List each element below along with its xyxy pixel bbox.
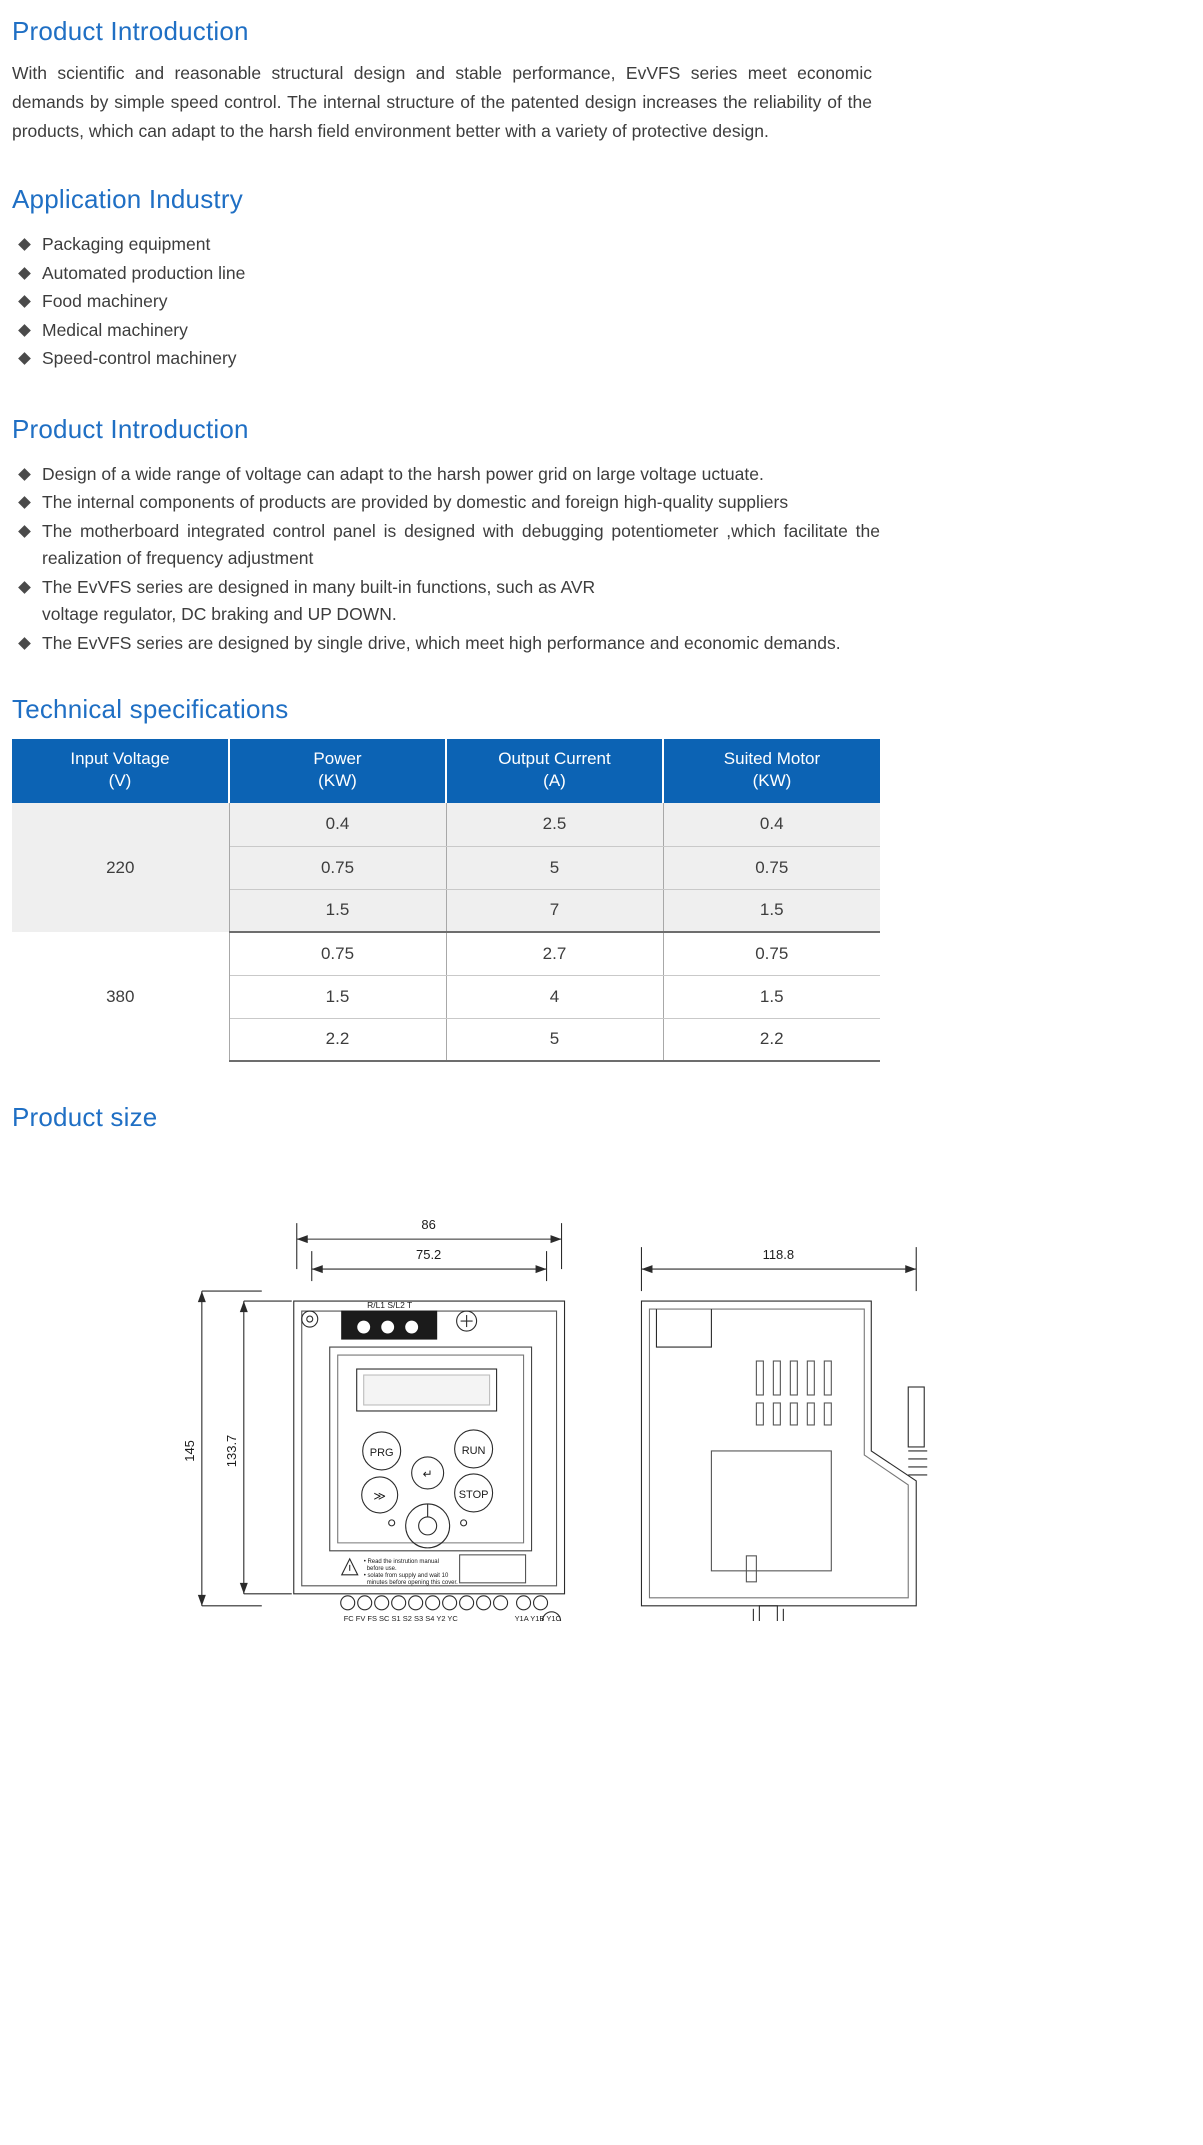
list-item-label: The EvVFS series are designed by single …	[42, 630, 880, 658]
cell-power: 1.5	[229, 975, 446, 1018]
cell-suited-motor: 0.75	[663, 846, 880, 889]
section-application-industry: Application Industry Packaging equipment…	[12, 146, 1191, 373]
product-dimension-drawing: 86 75.2 145 133.7 118.8 R/L1 S/L2 T PRG …	[12, 1151, 1191, 1621]
list-item-label: Automated production line	[42, 263, 245, 283]
cell-output-current: 5	[446, 1018, 663, 1061]
diamond-bullet-icon	[18, 525, 31, 538]
column-header-power: Power (KW)	[229, 739, 446, 803]
list-item: Food machinery	[12, 288, 1191, 316]
cell-output-current: 5	[446, 846, 663, 889]
table-row: 220 0.4 2.5 0.4	[12, 803, 880, 846]
warning-text-line-4: minutes before opening this cover.	[367, 1580, 458, 1586]
cell-suited-motor: 1.5	[663, 889, 880, 932]
cell-suited-motor: 0.4	[663, 803, 880, 846]
list-item-label: Packaging equipment	[42, 234, 210, 254]
dimension-label-width-outer: 86	[421, 1217, 435, 1232]
list-item-label: The EvVFS series are designed in many bu…	[42, 574, 880, 629]
page-title-product-introduction: Product Introduction	[12, 16, 1191, 47]
warning-text-line-3: • solate from supply and wait 10	[364, 1573, 449, 1579]
product-features-list: Design of a wide range of voltage can ad…	[12, 461, 880, 658]
dimension-label-height-inner: 133.7	[224, 1435, 239, 1467]
list-item-label: The internal components of products are …	[42, 489, 880, 517]
cell-power: 0.75	[229, 932, 446, 975]
diamond-bullet-icon	[18, 267, 31, 280]
list-item-label: Food machinery	[42, 291, 167, 311]
diamond-bullet-icon	[18, 238, 31, 251]
dimension-label-width-inner: 75.2	[416, 1247, 441, 1262]
list-item-label: Design of a wide range of voltage can ad…	[42, 461, 880, 489]
section-technical-specifications: Technical specifications Input Voltage (…	[12, 658, 1191, 1062]
warning-text-line-2: before use.	[367, 1566, 397, 1572]
cell-power: 2.2	[229, 1018, 446, 1061]
technical-specifications-table: Input Voltage (V) Power (KW) Output Curr…	[12, 739, 880, 1062]
list-item-label: Speed-control machinery	[42, 348, 237, 368]
diamond-bullet-icon	[18, 324, 31, 337]
diamond-bullet-icon	[18, 496, 31, 509]
document-page: Product Introduction With scientific and…	[0, 0, 1203, 1621]
cell-power: 0.75	[229, 846, 446, 889]
page-title-technical-specifications: Technical specifications	[12, 694, 1191, 725]
cell-output-current: 2.5	[446, 803, 663, 846]
cell-suited-motor: 2.2	[663, 1018, 880, 1061]
terminal-label-input-power: R/L1 S/L2 T	[367, 1300, 412, 1310]
table-header: Input Voltage (V) Power (KW) Output Curr…	[12, 739, 880, 803]
keypad-button-enter-icon: ↵	[423, 1467, 433, 1481]
dimension-label-height-outer: 145	[182, 1440, 197, 1462]
cell-suited-motor: 0.75	[663, 932, 880, 975]
list-item: The internal components of products are …	[12, 489, 880, 517]
terminal-label-control-right: Y1A Y1B Y1C	[515, 1614, 562, 1621]
column-header-output-current: Output Current (A)	[446, 739, 663, 803]
column-header-input-voltage: Input Voltage (V)	[12, 739, 229, 803]
section-product-introduction: Product Introduction With scientific and…	[12, 0, 1191, 146]
list-item: Medical machinery	[12, 317, 1191, 345]
keypad-button-prg-label: PRG	[370, 1447, 394, 1459]
cell-output-current: 4	[446, 975, 663, 1018]
page-title-product-features: Product Introduction	[12, 414, 1191, 445]
diamond-bullet-icon	[18, 468, 31, 481]
list-item: The motherboard integrated control panel…	[12, 518, 880, 573]
product-introduction-paragraph: With scientific and reasonable structura…	[12, 59, 872, 146]
cell-power: 0.4	[229, 803, 446, 846]
cell-power: 1.5	[229, 889, 446, 932]
table-body: 220 0.4 2.5 0.4 0.75 5 0.75 1.5 7 1.5	[12, 803, 880, 1061]
list-item: The EvVFS series are designed by single …	[12, 630, 880, 658]
list-item: The EvVFS series are designed in many bu…	[12, 574, 880, 629]
keypad-button-run-label: RUN	[462, 1445, 486, 1457]
terminal-label-control-left: FC FV FS SC S1 S2 S3 S4 Y2 YC	[344, 1614, 459, 1621]
column-header-suited-motor: Suited Motor (KW)	[663, 739, 880, 803]
diamond-bullet-icon	[18, 637, 31, 650]
table-header-row: Input Voltage (V) Power (KW) Output Curr…	[12, 739, 880, 803]
keypad-button-stop-label: STOP	[459, 1489, 489, 1501]
list-item-label: The motherboard integrated control panel…	[42, 518, 880, 573]
warning-text-line-1: • Read the instrution manual	[364, 1559, 439, 1565]
list-item: Design of a wide range of voltage can ad…	[12, 461, 880, 489]
page-title-application-industry: Application Industry	[12, 184, 1191, 215]
section-product-size: Product size	[12, 1062, 1191, 1621]
section-product-features: Product Introduction Design of a wide ra…	[12, 374, 1191, 658]
diamond-bullet-icon	[18, 581, 31, 594]
diamond-bullet-icon	[18, 352, 31, 365]
dimension-label-depth: 118.8	[763, 1247, 795, 1262]
cell-suited-motor: 1.5	[663, 975, 880, 1018]
table-row: 380 0.75 2.7 0.75	[12, 932, 880, 975]
cell-output-current: 2.7	[446, 932, 663, 975]
list-item: Speed-control machinery	[12, 345, 1191, 373]
list-item-label: Medical machinery	[42, 320, 188, 340]
cell-output-current: 7	[446, 889, 663, 932]
page-title-product-size: Product size	[12, 1102, 1191, 1133]
keypad-button-shift-icon: ≫	[373, 1489, 386, 1503]
cell-input-voltage: 220	[12, 803, 229, 932]
list-item: Automated production line	[12, 260, 1191, 288]
application-industry-list: Packaging equipment Automated production…	[12, 231, 1191, 373]
diamond-bullet-icon	[18, 295, 31, 308]
list-item: Packaging equipment	[12, 231, 1191, 259]
cell-input-voltage: 380	[12, 932, 229, 1061]
